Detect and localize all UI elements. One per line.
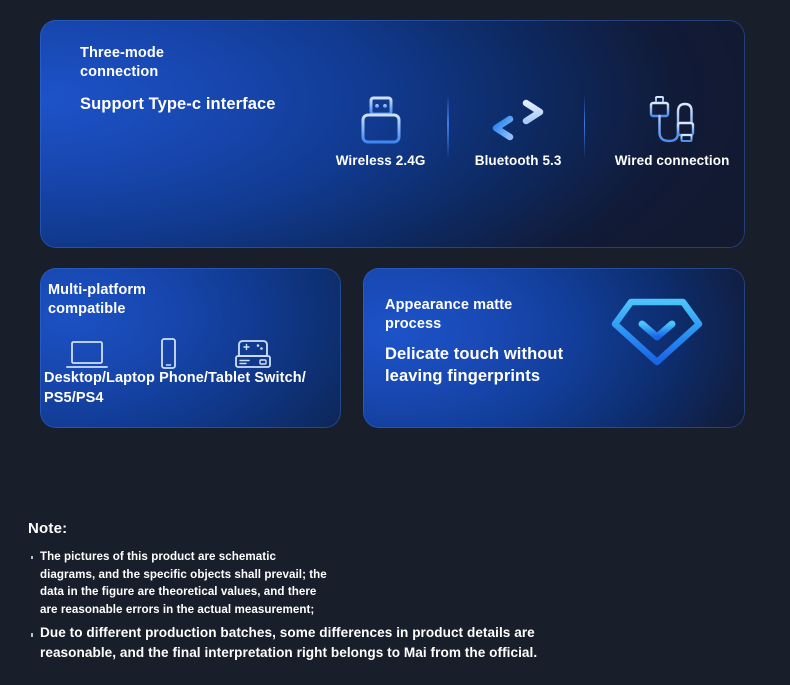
diamond-gem-icon [609, 294, 705, 368]
note-section: Note: The pictures of this product are s… [28, 520, 728, 662]
promo-page: Three-mode connection Support Type-c int… [0, 0, 790, 685]
usb-cable-icon [646, 92, 698, 150]
connection-divider-2 [584, 96, 586, 158]
three-mode-heading: Three-mode connection Support Type-c int… [80, 44, 276, 116]
matte-title: Delicate touch without leaving fingerpri… [385, 344, 563, 387]
bidirectional-arrows-icon [490, 92, 546, 150]
connection-wired-label: Wired connection [615, 153, 730, 168]
note-item: Due to different production batches, som… [28, 623, 728, 662]
connection-bluetooth-label: Bluetooth 5.3 [475, 153, 562, 168]
game-console-icon [230, 337, 276, 371]
platform-labels: Desktop/Laptop Phone/Tablet Switch/ PS5/… [44, 368, 334, 408]
three-mode-subtitle: Three-mode connection [80, 44, 276, 82]
connection-modes-row: Wireless 2.4G [330, 92, 745, 187]
matte-heading: Appearance matte process Delicate touch … [385, 296, 563, 387]
multi-platform-subtitle: Multi-platform compatible [48, 281, 146, 319]
three-mode-title: Support Type-c interface [80, 94, 276, 115]
multi-platform-heading: Multi-platform compatible [48, 281, 146, 319]
matte-subtitle: Appearance matte process [385, 296, 563, 334]
platform-icons-row [58, 337, 323, 371]
usb-dongle-icon [360, 92, 402, 150]
laptop-icon [64, 337, 110, 371]
note-item: The pictures of this product are schemat… [28, 548, 728, 618]
connection-wireless-label: Wireless 2.4G [336, 153, 426, 168]
connection-wired: Wired connection [599, 92, 745, 187]
connection-wireless: Wireless 2.4G [330, 92, 431, 187]
connection-bluetooth: Bluetooth 5.3 [465, 92, 572, 187]
note-title: Note: [28, 520, 728, 537]
connection-divider-1 [447, 96, 449, 158]
smartphone-icon [153, 337, 183, 371]
